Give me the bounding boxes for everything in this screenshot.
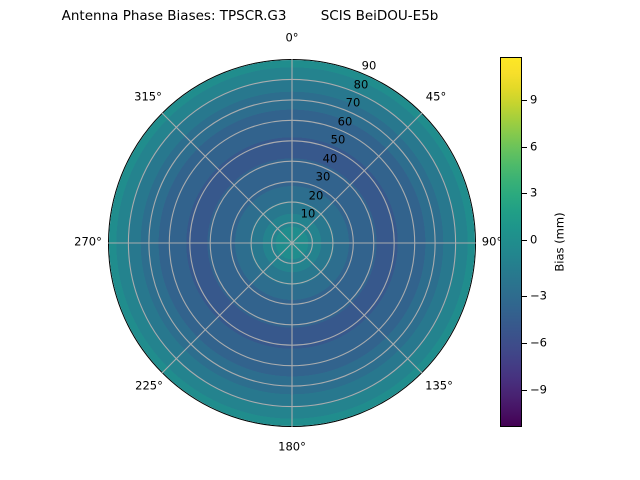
colorbar-tick-label-neg3: −3 [530, 290, 547, 302]
polar-data-disc [108, 59, 476, 427]
colorbar-tick-label-0: 0 [530, 234, 537, 246]
theta-tick-label-180: 180° [278, 441, 306, 453]
colorbar-axis-label: Bias (mm) [554, 212, 566, 271]
r-tick-label-80: 80 [354, 79, 369, 91]
colorbar-tick-label-9: 9 [530, 94, 537, 106]
r-tick-label-60: 60 [338, 116, 353, 128]
r-tick-label-40: 40 [323, 153, 338, 165]
colorbar-tick-mark-neg6 [522, 343, 527, 344]
r-tick-label-90: 90 [362, 60, 377, 72]
colorbar-tick-label-6: 6 [530, 141, 537, 153]
theta-tick-label-0: 0° [285, 32, 298, 44]
polar-heatmap-fill [108, 59, 476, 427]
r-tick-label-50: 50 [331, 134, 346, 146]
colorbar-tick-mark-neg9 [522, 390, 527, 391]
r-tick-label-20: 20 [309, 190, 324, 202]
colorbar-tick-mark-0 [522, 240, 527, 241]
colorbar-tick-mark-3 [522, 193, 527, 194]
r-tick-label-10: 10 [301, 208, 316, 220]
colorbar-tick-mark-6 [522, 147, 527, 148]
colorbar-tick-mark-9 [522, 100, 527, 101]
r-tick-label-70: 70 [346, 97, 361, 109]
colorbar-tick-label-neg6: −6 [530, 337, 547, 349]
theta-tick-label-315: 315° [134, 91, 162, 103]
polar-axes [108, 59, 476, 427]
page-title: Antenna Phase Biases: TPSCR.G3 SCIS BeiD… [0, 8, 500, 24]
theta-tick-label-135: 135° [425, 380, 453, 392]
theta-tick-label-225: 225° [135, 380, 163, 392]
theta-tick-label-45: 45° [426, 91, 446, 103]
theta-tick-label-270: 270° [74, 236, 102, 248]
colorbar-gradient [500, 57, 522, 427]
colorbar: 9 6 3 0 −3 −6 −9 [500, 57, 522, 427]
colorbar-tick-mark-neg3 [522, 296, 527, 297]
colorbar-tick-label-3: 3 [530, 187, 537, 199]
colorbar-tick-label-neg9: −9 [530, 384, 547, 396]
r-tick-label-30: 30 [316, 171, 331, 183]
polar-chart-figure: Antenna Phase Biases: TPSCR.G3 SCIS BeiD… [0, 0, 640, 480]
